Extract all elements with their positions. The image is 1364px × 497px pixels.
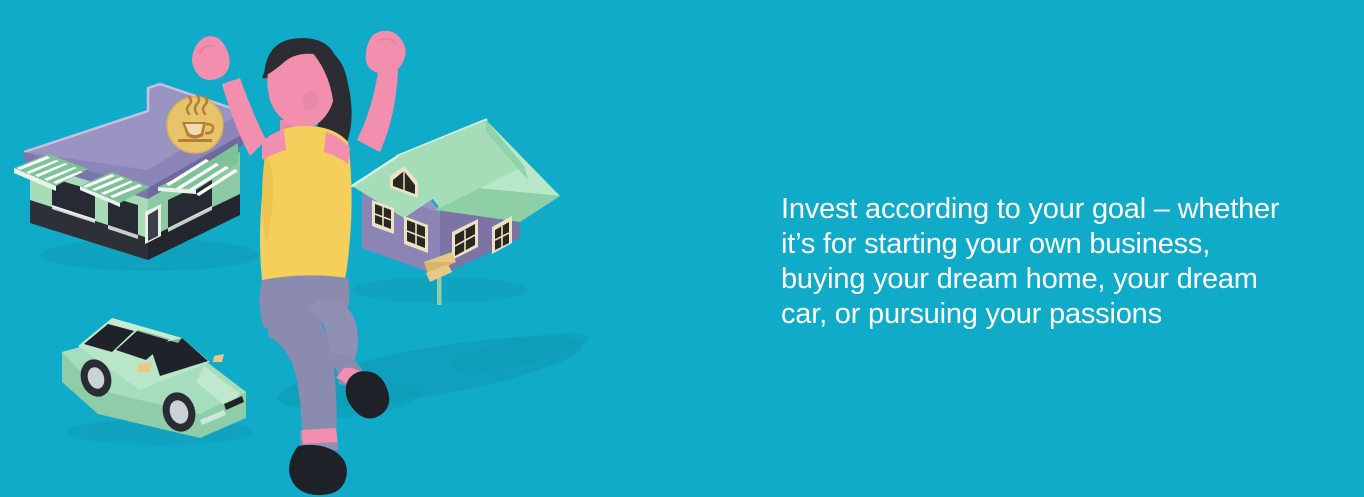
hero-illustration [0, 0, 700, 497]
coffee-shop [14, 84, 260, 271]
dream-home [352, 120, 560, 305]
headline-text: Invest according to your goal – whether … [781, 192, 1301, 332]
hero-banner: Invest according to your goal – whether … [0, 0, 1364, 497]
right-arm [357, 31, 406, 152]
dream-car [62, 318, 252, 445]
